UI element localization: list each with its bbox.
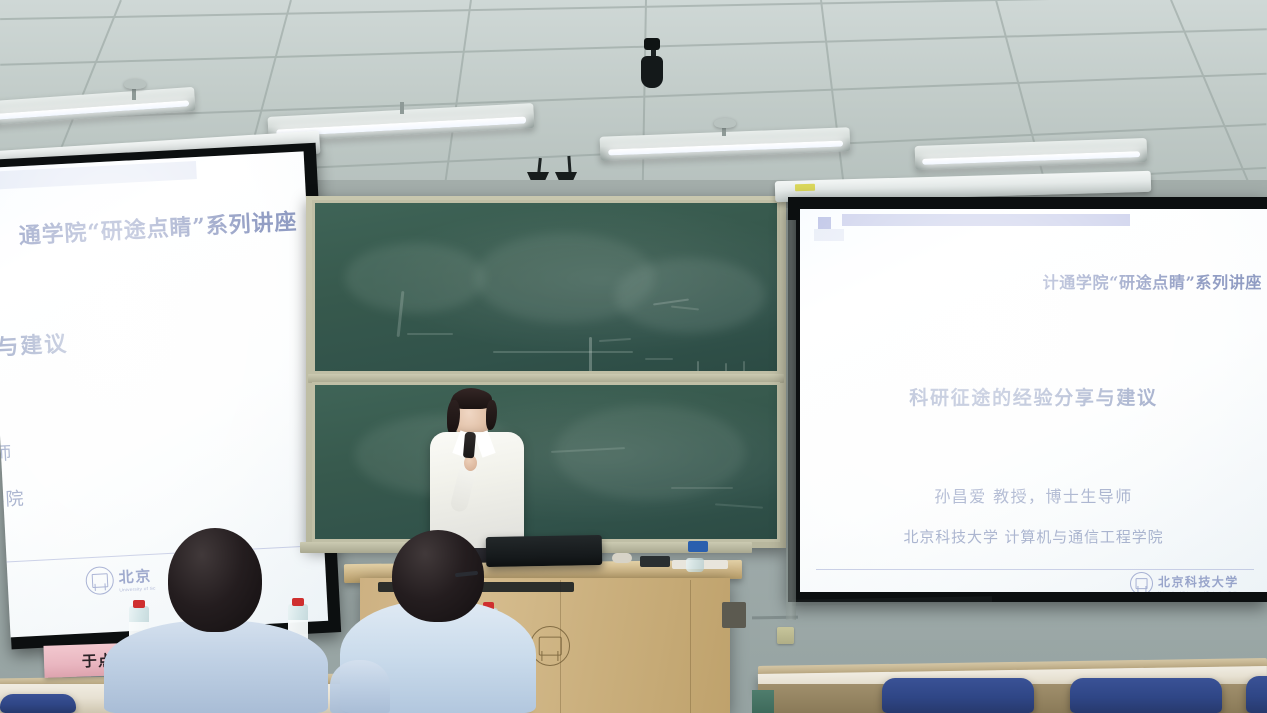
audience-member-head-left <box>168 528 262 632</box>
water-bottle <box>686 558 704 572</box>
slide-divider <box>816 569 1254 570</box>
slide-left-header: 通学院“研途点睛”系列讲座 <box>0 204 298 255</box>
podium-equipment-box <box>640 556 670 567</box>
podium-mouse <box>612 553 632 563</box>
podium-blue-item <box>688 541 708 552</box>
chalkboard-upper-panel <box>312 200 780 374</box>
chair <box>1070 678 1222 713</box>
slide-left-logo-cn: 北京 <box>118 564 155 587</box>
slide-speaker: 孙昌爱 教授，博士生导师 <box>800 483 1267 507</box>
wall-pillar <box>786 220 796 620</box>
floor-strip <box>752 690 774 713</box>
slide-left-speaker: 博士生导师 <box>0 433 123 476</box>
slide-logo-en: University of Science and Technology Bei… <box>1158 590 1241 592</box>
ceiling-camera <box>641 56 663 88</box>
university-seal-icon <box>1130 572 1153 592</box>
podium-monitor <box>486 535 603 567</box>
slide-left-logo: 北京 University of Sc <box>85 564 156 596</box>
ceiling-camera-head <box>644 38 660 50</box>
slide-right: 计通学院“研途点睛”系列讲座 科研征途的经验分享与建议 孙昌爱 教授，博士生导师… <box>800 209 1267 592</box>
chair <box>882 678 1034 713</box>
chair <box>0 694 76 713</box>
slide-logo-cn: 北京科技大学 <box>1158 573 1241 590</box>
audience-member-body-left <box>104 620 328 713</box>
podium-side-panel <box>722 602 746 628</box>
slide-logo: 北京科技大学 University of Science and Technol… <box>1130 572 1241 592</box>
slide-title: 科研征途的经验分享与建议 <box>800 383 1267 410</box>
slide-left-title: 验分享与建议 <box>0 321 156 370</box>
housing-warning-label <box>795 184 815 192</box>
university-seal-icon <box>85 566 114 595</box>
audience-member-head-center <box>392 530 484 622</box>
chair <box>1246 676 1267 713</box>
slide-header: 计通学院“研途点睛”系列讲座 <box>800 269 1262 293</box>
slide-decoration-bar <box>842 214 1130 226</box>
slide-left: 通学院“研途点睛”系列讲座 验分享与建议 博士生导师 机与通信工程学院 北京 U… <box>0 151 328 637</box>
chalkboard-lower-panel <box>312 382 780 542</box>
slide-affiliation: 北京科技大学 计算机与通信工程学院 <box>800 526 1267 547</box>
podium-university-emblem <box>530 626 570 666</box>
wall-socket-panel[interactable] <box>777 627 794 644</box>
audience-member-body-right <box>330 660 390 713</box>
slide-decoration-soft <box>814 229 844 241</box>
lecture-hall-photo: 通学院“研途点睛”系列讲座 验分享与建议 博士生导师 机与通信工程学院 北京 U… <box>0 0 1267 713</box>
slide-decoration-square <box>818 217 831 229</box>
slide-left-affiliation: 机与通信工程学院 <box>0 480 108 523</box>
handheld-microphone <box>463 432 476 459</box>
